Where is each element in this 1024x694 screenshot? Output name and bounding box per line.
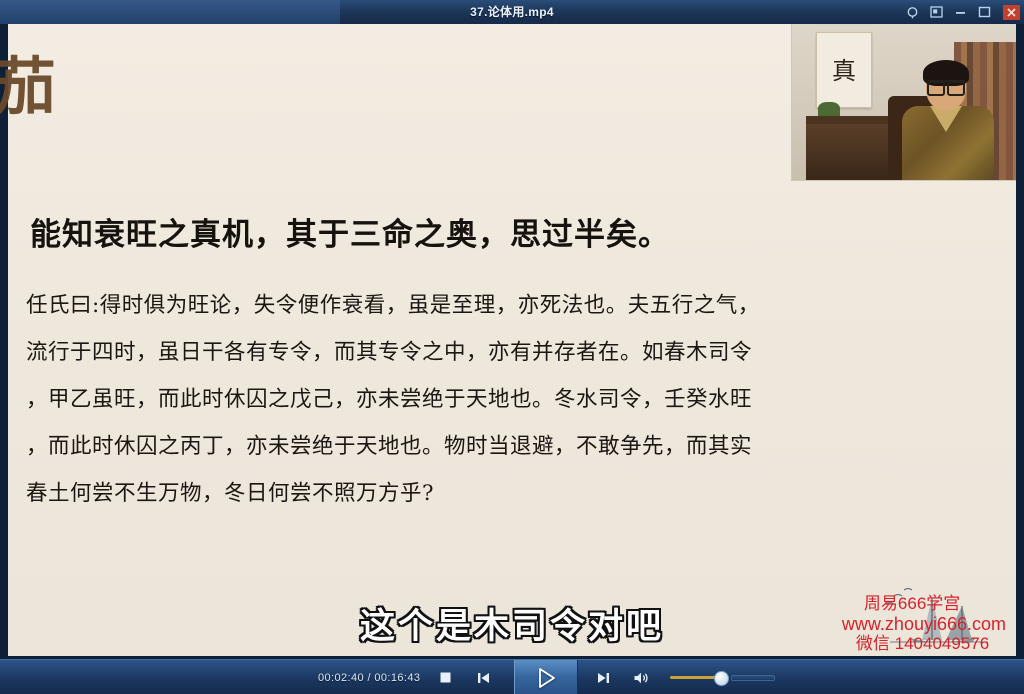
stop-icon[interactable] (432, 665, 458, 691)
play-icon (535, 667, 557, 689)
wall-scroll-decor (816, 32, 872, 108)
maximize-icon[interactable] (977, 5, 992, 19)
body-line: 任氏曰:得时俱为旺论，失令便作衰看，虽是至理，亦死法也。夫五行之气， (26, 282, 998, 329)
pin-icon[interactable] (905, 5, 920, 19)
watermark-line-2: www.zhouyi666.com (842, 614, 1006, 635)
title-bar: 37.论体用.mp4 (0, 0, 1024, 25)
play-button[interactable] (514, 660, 578, 694)
site-watermark: 周易666学宫 www.zhouyi666.com 微信 1404049576 (842, 594, 1006, 654)
volume-icon[interactable] (628, 665, 654, 691)
volume-knob[interactable] (714, 671, 729, 686)
watermark-line-1: 周易666学宫 (842, 594, 1006, 614)
watermark-line-3: 微信 1404049576 (842, 634, 1006, 654)
volume-remaining-track[interactable] (731, 675, 775, 681)
presenter-figure (900, 64, 996, 180)
window-title: 37.论体用.mp4 (0, 0, 1024, 24)
time-display: 00:02:40 / 00:16:43 (318, 672, 420, 684)
previous-track-icon[interactable] (470, 665, 496, 691)
video-stage[interactable]: 茄 能知衰旺之真机，其于三命之奥，思过半矣。 (0, 24, 1024, 659)
slide-heading: 能知衰旺之真机，其于三命之奥，思过半矣。 (30, 216, 970, 255)
close-icon[interactable] (1003, 5, 1020, 20)
slide-content: 茄 能知衰旺之真机，其于三命之奥，思过半矣。 (8, 24, 1016, 656)
slide-brand-logo: 茄 (0, 56, 52, 118)
window-controls (905, 0, 1020, 24)
next-track-icon[interactable] (590, 665, 616, 691)
minimize-icon[interactable] (953, 5, 968, 19)
volume-slider[interactable] (670, 675, 775, 681)
body-line: ，而此时休囚之丙丁，亦未尝绝于天地也。物时当退避，不敢争先，而其实 (26, 423, 998, 470)
video-player-window: 37.论体用.mp4 茄 (0, 0, 1024, 694)
slide-body-text: 任氏曰:得时俱为旺论，失令便作衰看，虽是至理，亦死法也。夫五行之气， 流行于四时… (26, 282, 998, 517)
body-line: 春土何尝不生万物，冬日何尝不照万方乎? (26, 470, 998, 517)
body-line: 流行于四时，虽日干各有专令，而其专令之中，亦有并存者在。如春木司令 (26, 329, 998, 376)
playback-control-bar: 00:02:40 / 00:16:43 (0, 659, 1024, 694)
restore-icon[interactable] (929, 5, 944, 19)
body-line: ，甲乙虽旺，而此时休囚之戊己，亦未尝绝于天地也。冬水司令，壬癸水旺 (26, 376, 998, 423)
volume-track[interactable] (670, 676, 724, 679)
webcam-inset (791, 24, 1016, 181)
glasses-icon (927, 80, 965, 93)
